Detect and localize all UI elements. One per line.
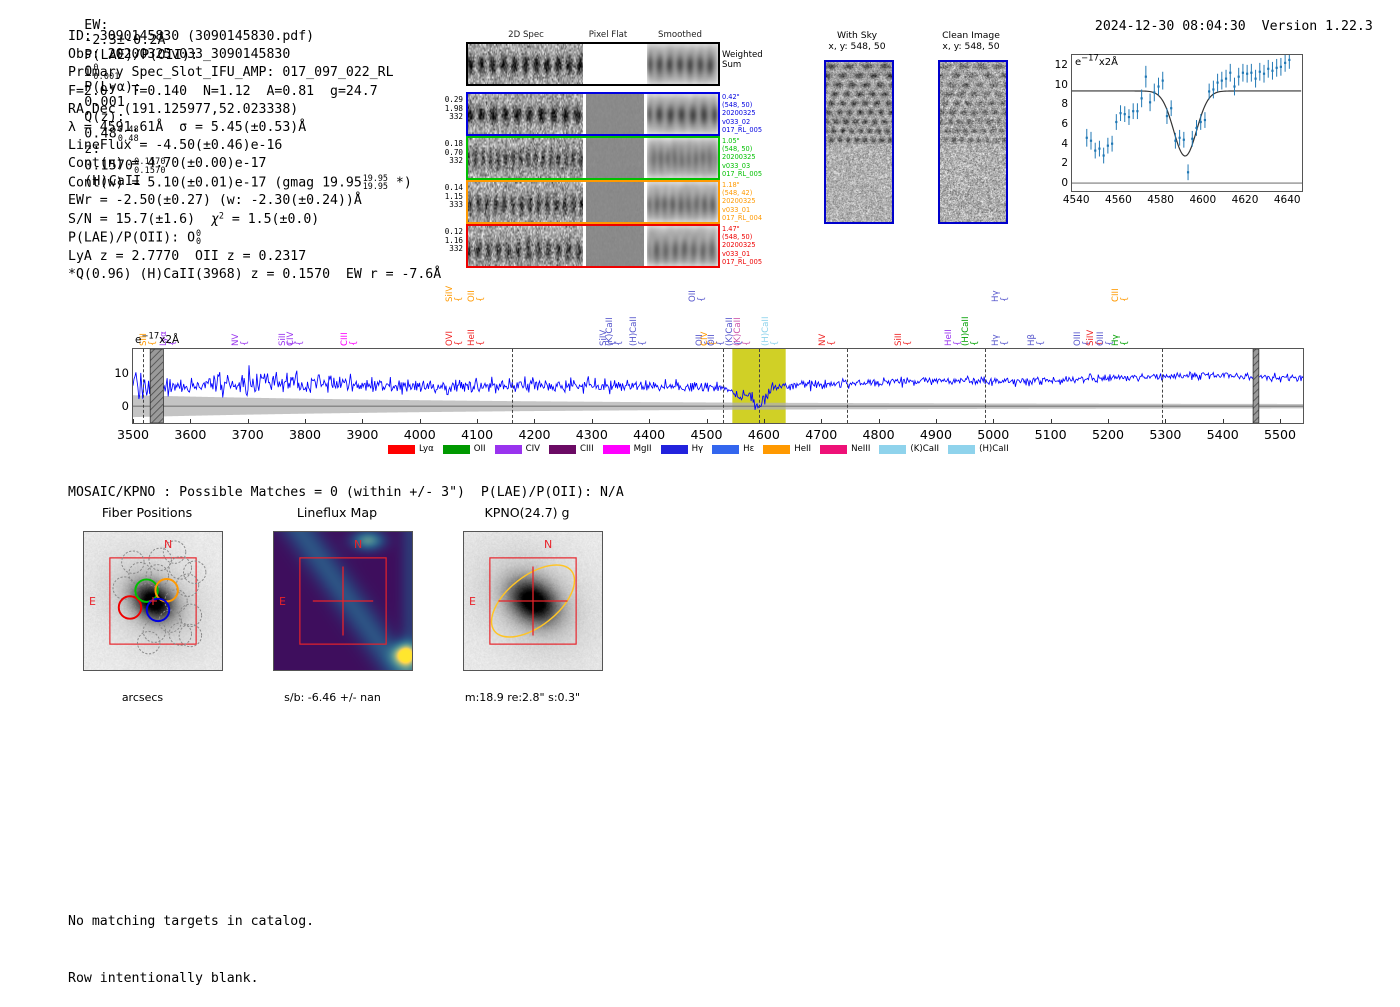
spectrum-tick-mark (707, 419, 708, 423)
spectrum-tick-mark (190, 419, 191, 423)
spectrum-marker-line (143, 349, 144, 423)
image-cutouts-panel: With Skyx, y: 548, 50Clean Imagex, y: 54… (810, 30, 1035, 255)
spectrum-plot-area: e−17x2Å 01035003600370038003900400041004… (132, 348, 1304, 424)
panel-title: Fiber Positions (67, 505, 227, 520)
spectrum-line-brace: { (1120, 341, 1130, 346)
timestamp: 2024-12-30 08:04:30 (1095, 19, 1246, 34)
spectrum-line-brace: { (903, 341, 913, 346)
spectrum-x-tick: 4100 (461, 427, 493, 442)
with-sky-image (824, 60, 894, 224)
legend-entry: OII (443, 444, 486, 454)
north-indicator: N (544, 538, 552, 551)
metadata-line: LyA z = 2.7770 OII z = 0.2317 (68, 248, 441, 266)
spectrum-tick-mark (821, 419, 822, 423)
spectrum-x-tick: 3700 (232, 427, 264, 442)
legend-label: Hγ (692, 444, 704, 454)
spectrum-marker-line (723, 349, 724, 423)
metadata-line: F=2.0" T=0.140 N=1.12 A=0.81 g=24.7 (68, 83, 441, 101)
legend-swatch (443, 445, 470, 454)
spectrum-line-brace: { (638, 341, 648, 346)
spectrum-x-tick: 3500 (117, 427, 149, 442)
spec2d-fiber-row (466, 224, 720, 268)
legend-swatch (603, 445, 630, 454)
footer-line-1: No matching targets in catalog. (68, 912, 314, 931)
fiber-right-info: 1.05"(548, 50)20200325v033_03017_RL_005 (722, 137, 786, 178)
panel-title: KPNO(24.7) g (447, 505, 607, 520)
legend-entry: CIV (495, 444, 540, 454)
spectrum-tick-mark (1280, 419, 1281, 423)
fiber-info-value: 017_RL_005 (722, 126, 786, 134)
metadata-line: λ = 4591.61Å σ = 5.45(±0.53)Å (68, 119, 441, 137)
metadata-line: P(LAE)/P(OII): O00 (68, 229, 441, 248)
spectrum-unit-label: e−17x2Å (135, 334, 179, 346)
spectrum-x-tick: 4300 (576, 427, 608, 442)
legend-entry: Hε (712, 444, 754, 454)
metadata-line: Cont(w) = 5.10(±0.01)e-17 (gmag 19.9519.… (68, 174, 441, 193)
spectrum-x-tick: 5300 (1149, 427, 1181, 442)
spectrum-marker-line (759, 349, 760, 423)
legend-label: MgII (634, 444, 652, 454)
line-fit-x-tick: 4620 (1232, 194, 1259, 206)
spectrum-x-tick: 4900 (920, 427, 952, 442)
fiber-info-value: (548, 42) (722, 189, 786, 197)
panel-kpno-image: KPNO(24.7) gNE420-2-4-4-2024m:18.9 re:2.… (435, 505, 610, 720)
fiber-info-value: 1.05" (722, 137, 786, 145)
clean-image (938, 60, 1008, 224)
spectrum-tick-mark (362, 419, 363, 423)
fiber-info-value: v033_03 (722, 162, 786, 170)
legend-label: CIV (526, 444, 540, 454)
fiber-stat-value: 332 (430, 113, 463, 122)
legend-entry: (K)CaII (879, 444, 939, 454)
spectrum-line-brace: { (1000, 341, 1010, 346)
metadata-line: ID: 3090145830 (3090145830.pdf) (68, 28, 441, 46)
panel-image: NE420-2-4-4-2024 (83, 531, 223, 671)
legend-swatch (388, 445, 415, 454)
panel-caption: arcsecs (55, 691, 230, 704)
metadata-line: RA,Dec (191.125977,52.023338) (68, 101, 441, 119)
spectrum-x-tick: 5500 (1264, 427, 1296, 442)
spectrum-marker-line (1162, 349, 1163, 423)
mosaic-match-line: MOSAIC/KPNO : Possible Matches = 0 (with… (68, 485, 624, 500)
spectrum-marker-line (847, 349, 848, 423)
spectrum-tick-mark (133, 419, 134, 423)
spec2d-fiber-row (466, 136, 720, 180)
fiber-info-value: 1.18" (722, 181, 786, 189)
fiber-info-value: v033_01 (722, 206, 786, 214)
spectrum-x-tick: 5400 (1207, 427, 1239, 442)
line-fit-y-tick: 0 (1061, 177, 1068, 189)
spectrum-line-brace: { (827, 341, 837, 346)
line-fit-y-tick: 6 (1061, 118, 1068, 130)
fiber-left-stats: 0.121.16332 (430, 228, 463, 254)
legend-swatch (820, 445, 847, 454)
fiber-stat-value: 333 (430, 201, 463, 210)
fiber-stat-value: 332 (430, 157, 463, 166)
fiber-right-info: 1.18"(548, 42)20200325v033_01017_RL_004 (722, 181, 786, 222)
north-indicator: N (354, 538, 362, 551)
fiber-info-value: (548, 50) (722, 145, 786, 153)
spectrum-line-brace: { (240, 341, 250, 346)
panel-caption: s/b: -6.46 +/- nan (245, 691, 420, 704)
footer-note: No matching targets in catalog. Row inte… (68, 874, 314, 1007)
spectrum-line-brace: { (1120, 297, 1130, 302)
spec2d-fiber-row (466, 92, 720, 136)
metadata-line: LineFlux = -4.50(±0.46)e-16 (68, 137, 441, 155)
line-fit-y-tick: 2 (1061, 157, 1068, 169)
panel-fiber-positions: Fiber PositionsNE420-2-4-4-2024arcsecs (55, 505, 230, 720)
spectrum-y-tick: 0 (122, 399, 129, 413)
panel-overlay (84, 532, 222, 670)
cutout-title-text: Clean Image (916, 30, 1026, 41)
spectrum-x-tick: 3900 (346, 427, 378, 442)
fiber-left-stats: 0.180.70332 (430, 140, 463, 166)
legend-label: NeIII (851, 444, 870, 454)
east-indicator: E (469, 595, 476, 608)
legend-label: Hε (743, 444, 754, 454)
spectrum-tick-mark (477, 419, 478, 423)
footer-line-2: Row intentionally blank. (68, 969, 314, 988)
spectrum-tick-mark (879, 419, 880, 423)
spectrum-line-brace: { (349, 341, 359, 346)
east-indicator: E (89, 595, 96, 608)
spectrum-x-tick: 3600 (174, 427, 206, 442)
metadata-line: EWr = -2.50(±0.27) (w: -2.30(±0.24))Å (68, 192, 441, 210)
spectrum-line-brace: { (1036, 341, 1046, 346)
spectrum-x-tick: 4800 (863, 427, 895, 442)
fiber-info-value: 017_RL_005 (722, 170, 786, 178)
legend-entry: HeII (763, 444, 811, 454)
fiber-info-value: 20200325 (722, 241, 786, 249)
fiber-info-value: (548, 50) (722, 233, 786, 241)
cutout-coords: x, y: 548, 50 (916, 41, 1026, 52)
legend-swatch (495, 445, 522, 454)
spec2d-column-header: 2D Spec (496, 30, 556, 40)
spectrum-x-tick: 5200 (1092, 427, 1124, 442)
fiber-info-value: 017_RL_005 (722, 258, 786, 266)
line-fit-x-tick: 4600 (1189, 194, 1216, 206)
spectrum-tick-mark (1165, 419, 1166, 423)
legend-entry: Lyα (388, 444, 434, 454)
line-fit-y-tick: 10 (1055, 79, 1068, 91)
cutout-title: With Skyx, y: 548, 50 (802, 30, 912, 52)
spectrum-line-brace: { (476, 297, 486, 302)
spectrum-tick-mark (764, 419, 765, 423)
spectrum-tick-mark (649, 419, 650, 423)
spec2d-column-header: Smoothed (650, 30, 710, 40)
legend-label: Lyα (419, 444, 434, 454)
spectrum-line-brace: { (742, 341, 752, 346)
fiber-info-value: 20200325 (722, 153, 786, 161)
panel-caption: m:18.9 re:2.8" s:0.3" (435, 691, 610, 704)
metadata-line: S/N = 15.7(±1.6) χ2 = 1.5(±0.0) (68, 211, 441, 229)
spectrum-x-tick: 3800 (289, 427, 321, 442)
panel-image: NE420-2-4-4-2024 (463, 531, 603, 671)
metadata-line: Cont(n) = 4.70(±0.00)e-17 (68, 155, 441, 173)
cutout-title: Clean Imagex, y: 548, 50 (916, 30, 1026, 52)
spectrum-legend: LyαOIICIVCIIIMgIIHγHεHeIINeIII(K)CaII(H)… (388, 444, 1018, 454)
spectrum-marker-line (512, 349, 513, 423)
spectrum-x-tick: 4600 (748, 427, 780, 442)
fiber-info-value: v033_01 (722, 250, 786, 258)
fiber-info-value: (548, 50) (722, 101, 786, 109)
spectrum-marker-line (985, 349, 986, 423)
spectrum-line-brace: { (454, 297, 464, 302)
north-indicator: N (164, 538, 172, 551)
spectrum-line-brace: { (295, 341, 305, 346)
line-fit-chart: e−17x2Å 02468101245404560458046004620464… (1033, 48, 1305, 218)
fiber-right-info: 0.42"(548, 50)20200325v033_02017_RL_005 (722, 93, 786, 134)
spectrum-tick-mark (248, 419, 249, 423)
full-spectrum-chart: SiII{Lyα{NV{SiII{CIV{CIII{SiIV{OVI{OII{H… (96, 276, 1304, 466)
legend-swatch (879, 445, 906, 454)
fiber-right-info: 1.47"(548, 50)20200325v033_01017_RL_005 (722, 225, 786, 266)
spectrum-tick-mark (993, 419, 994, 423)
metadata-line: Primary Spec_Slot_IFU_AMP: 017_097_022_R… (68, 64, 441, 82)
panel-overlay (274, 532, 412, 670)
line-fit-x-tick: 4640 (1274, 194, 1301, 206)
line-fit-y-tick: 4 (1061, 138, 1068, 150)
spectrum-x-tick: 4000 (404, 427, 436, 442)
emission-line-labels: SiII{Lyα{NV{SiII{CIV{CIII{SiIV{OVI{OII{H… (132, 276, 1304, 348)
legend-entry: (H)CaII (948, 444, 1009, 454)
panel-image: NE420-2-4-4-2024 (273, 531, 413, 671)
bottom-image-panels: Fiber PositionsNE420-2-4-4-2024arcsecsLi… (55, 505, 625, 720)
spectrum-tick-mark (592, 419, 593, 423)
spectrum-y-tick: 10 (114, 366, 129, 380)
spectrum-line-brace: { (476, 341, 486, 346)
spec2d-fiber-row (466, 42, 720, 86)
spectrum-tick-mark (420, 419, 421, 423)
line-fit-y-tick: 8 (1061, 98, 1068, 110)
metadata-line: Obs: 20200325v033_3090145830 (68, 46, 441, 64)
spec2d-fiber-row (466, 180, 720, 224)
spectrum-tick-mark (305, 419, 306, 423)
legend-label: CIII (580, 444, 594, 454)
spectrum-tick-mark (534, 419, 535, 423)
spectrum-line-brace: { (770, 341, 780, 346)
fiber-info-value: 1.47" (722, 225, 786, 233)
east-indicator: E (279, 595, 286, 608)
spectrum-x-tick: 5100 (1035, 427, 1067, 442)
legend-entry: NeIII (820, 444, 870, 454)
legend-swatch (763, 445, 790, 454)
panel-title: Lineflux Map (257, 505, 417, 520)
fiber-info-value: v033_02 (722, 118, 786, 126)
spec2d-panel: 2D SpecPixel FlatSmoothedWeightedSum0.29… (430, 30, 790, 258)
spectrum-x-tick: 4400 (633, 427, 665, 442)
line-fit-y-tick: 12 (1055, 59, 1068, 71)
metadata-block: ID: 3090145830 (3090145830.pdf)Obs: 2020… (68, 28, 441, 284)
version-label: Version 1.22.3 (1262, 19, 1373, 34)
legend-label: (H)CaII (979, 444, 1009, 454)
weighted-sum-line1: Weighted (722, 50, 763, 60)
spectrum-tick-mark (1051, 419, 1052, 423)
weighted-sum-line2: Sum (722, 60, 763, 70)
legend-swatch (549, 445, 576, 454)
legend-entry: Hγ (661, 444, 704, 454)
fiber-stat-value: 332 (430, 245, 463, 254)
spectrum-svg (133, 349, 1303, 423)
spectrum-line-brace: { (1000, 297, 1010, 302)
panel-lineflux-map: Lineflux MapNE420-2-4-4-2024s/b: -6.46 +… (245, 505, 420, 720)
spectrum-x-tick: 4200 (518, 427, 550, 442)
header-timestamp-version: 2024-12-30 08:04:30 Version 1.22.3 (1079, 4, 1373, 34)
fiber-info-value: 20200325 (722, 197, 786, 205)
legend-swatch (661, 445, 688, 454)
spec2d-column-header: Pixel Flat (578, 30, 638, 40)
fiber-left-stats: 0.291.98332 (430, 96, 463, 122)
line-fit-x-tick: 4580 (1147, 194, 1174, 206)
spectrum-line-brace: { (970, 341, 980, 346)
fiber-info-value: 017_RL_004 (722, 214, 786, 222)
line-fit-x-tick: 4540 (1063, 194, 1090, 206)
line-fit-unit-label: e−17x2Å (1075, 57, 1118, 68)
legend-label: HeII (794, 444, 811, 454)
cutout-title-text: With Sky (802, 30, 912, 41)
spectrum-x-tick: 5000 (977, 427, 1009, 442)
spectrum-line-brace: { (608, 341, 618, 346)
line-fit-svg (1072, 55, 1302, 191)
legend-label: OII (474, 444, 486, 454)
cutout-coords: x, y: 548, 50 (802, 41, 912, 52)
spectrum-line-brace: { (454, 341, 464, 346)
spectrum-x-tick: 4700 (805, 427, 837, 442)
legend-entry: CIII (549, 444, 594, 454)
legend-swatch (712, 445, 739, 454)
spectrum-line-brace: { (697, 297, 707, 302)
spectrum-tick-mark (1223, 419, 1224, 423)
spectrum-x-tick: 4500 (690, 427, 722, 442)
fiber-left-stats: 0.141.15333 (430, 184, 463, 210)
weighted-sum-label: WeightedSum (722, 50, 763, 70)
fiber-info-value: 0.42" (722, 93, 786, 101)
spectrum-tick-mark (1108, 419, 1109, 423)
line-fit-x-tick: 4560 (1105, 194, 1132, 206)
fiber-info-value: 20200325 (722, 109, 786, 117)
line-fit-plot-area: e−17x2Å 02468101245404560458046004620464… (1071, 54, 1303, 192)
legend-swatch (948, 445, 975, 454)
legend-entry: MgII (603, 444, 652, 454)
panel-overlay (464, 532, 602, 670)
legend-label: (K)CaII (910, 444, 939, 454)
spectrum-tick-mark (936, 419, 937, 423)
